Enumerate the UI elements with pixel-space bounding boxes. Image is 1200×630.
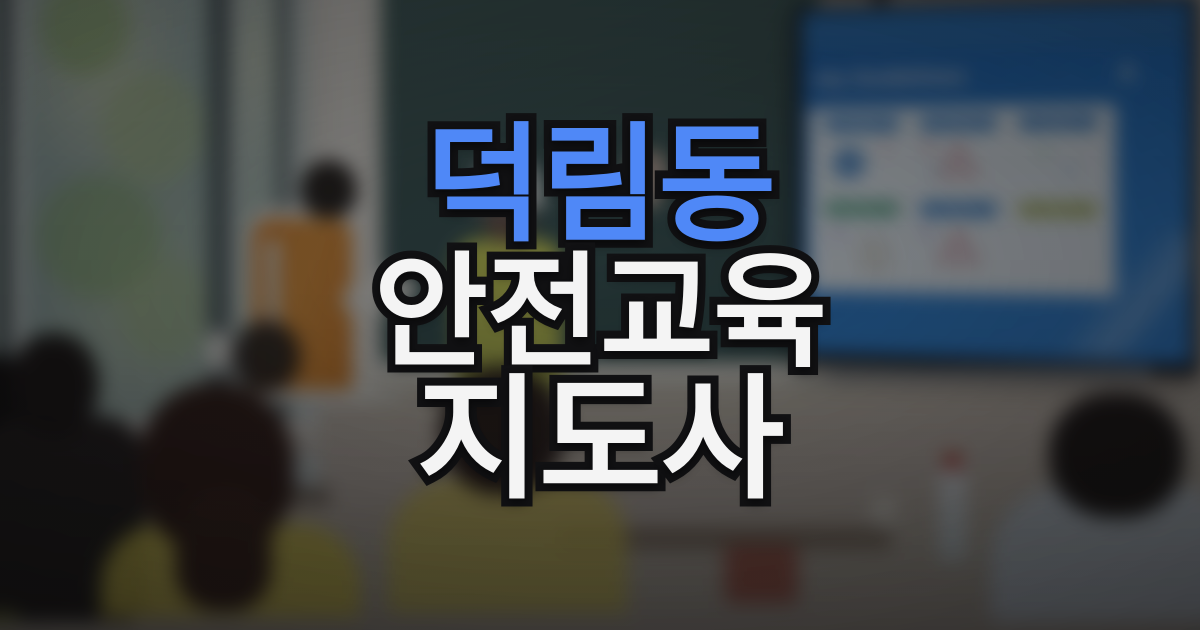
title-line-2: 안전교육 <box>374 254 826 373</box>
title-line-1: 덕림동 <box>425 125 775 248</box>
banner-canvas: ety Guidelines 안전 작업수칙 <box>0 0 1200 630</box>
title-overlay: 덕림동 안전교육 지도사 <box>0 0 1200 630</box>
title-line-3: 지도사 <box>417 377 784 506</box>
